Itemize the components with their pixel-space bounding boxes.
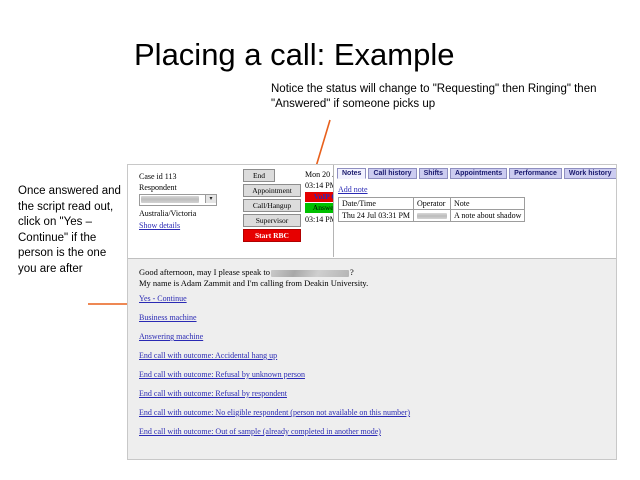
- link-out-of-sample[interactable]: End call with outcome: Out of sample (al…: [139, 427, 610, 437]
- respondent-name-redacted: [271, 270, 349, 277]
- tab-bar: Notes Call history Shifts Appointments P…: [334, 165, 616, 179]
- link-business-machine[interactable]: Business machine: [139, 313, 610, 323]
- column-operator: Operator: [414, 198, 451, 210]
- link-refusal-unknown-person[interactable]: End call with outcome: Refusal by unknow…: [139, 370, 610, 380]
- cell-operator: [414, 210, 451, 222]
- cell-note: A note about shadow: [451, 210, 525, 222]
- notes-table: Date/Time Operator Note Thu 24 Jul 03:31…: [338, 197, 525, 222]
- tab-appointments[interactable]: Appointments: [450, 168, 507, 179]
- respondent-value-redacted: [141, 196, 199, 203]
- table-row[interactable]: Thu 24 Jul 03:31 PM A note about shadow: [339, 210, 525, 222]
- app-header-area: Case id 113 Respondent ▾ Australia/Victo…: [128, 165, 616, 257]
- app-screenshot: Case id 113 Respondent ▾ Australia/Victo…: [127, 164, 617, 460]
- script-area: Good afternoon, may I please speak to? M…: [128, 258, 616, 459]
- add-note-link[interactable]: Add note: [338, 185, 368, 194]
- link-answering-machine[interactable]: Answering machine: [139, 332, 610, 342]
- script-line-1-before: Good afternoon, may I please speak to: [139, 267, 270, 277]
- timezone-label: Australia/Victoria: [139, 208, 237, 219]
- end-button[interactable]: End: [243, 169, 275, 182]
- case-details-panel: Case id 113 Respondent ▾ Australia/Victo…: [139, 171, 237, 231]
- annotation-yes-continue: Once answered and the script read out, c…: [18, 184, 122, 277]
- respondent-label: Respondent: [139, 182, 237, 193]
- call-hangup-button[interactable]: Call/Hangup: [243, 199, 301, 212]
- case-id-label: Case id 113: [139, 171, 237, 182]
- script-text: Good afternoon, may I please speak to? M…: [139, 267, 368, 289]
- cell-datetime: Thu 24 Jul 03:31 PM: [339, 210, 414, 222]
- tab-work-history[interactable]: Work history: [564, 168, 617, 179]
- chevron-down-icon[interactable]: ▾: [205, 195, 216, 203]
- outcome-link-list: Yes - Continue Business machine Answerin…: [139, 294, 610, 446]
- presentation-slide: Placing a call: Example Notice the statu…: [0, 0, 640, 480]
- script-line-2: My name is Adam Zammit and I'm calling f…: [139, 278, 368, 289]
- respondent-select[interactable]: ▾: [139, 194, 217, 206]
- show-details-link[interactable]: Show details: [139, 220, 180, 231]
- start-rbc-button[interactable]: Start RBC: [243, 229, 301, 242]
- link-no-eligible-respondent[interactable]: End call with outcome: No eligible respo…: [139, 408, 610, 418]
- script-line-1-after: ?: [350, 267, 354, 277]
- call-action-buttons: End Appointment Call/Hangup Supervisor S…: [243, 169, 301, 244]
- page-title: Placing a call: Example: [134, 36, 455, 74]
- annotation-status-change: Notice the status will change to "Reques…: [271, 82, 601, 111]
- tab-panel: Notes Call history Shifts Appointments P…: [333, 165, 616, 257]
- script-line-1: Good afternoon, may I please speak to?: [139, 267, 368, 278]
- notes-table-header-row: Date/Time Operator Note: [339, 198, 525, 210]
- link-yes-continue[interactable]: Yes - Continue: [139, 294, 610, 304]
- appointment-button[interactable]: Appointment: [243, 184, 301, 197]
- link-refusal-respondent[interactable]: End call with outcome: Refusal by respon…: [139, 389, 610, 399]
- operator-redacted: [417, 213, 447, 219]
- tab-shifts[interactable]: Shifts: [419, 168, 448, 179]
- column-note: Note: [451, 198, 525, 210]
- tab-performance[interactable]: Performance: [509, 168, 562, 179]
- tab-notes[interactable]: Notes: [337, 168, 366, 179]
- supervisor-button[interactable]: Supervisor: [243, 214, 301, 227]
- tab-call-history[interactable]: Call history: [368, 168, 416, 179]
- column-datetime: Date/Time: [339, 198, 414, 210]
- link-accidental-hang-up[interactable]: End call with outcome: Accidental hang u…: [139, 351, 610, 361]
